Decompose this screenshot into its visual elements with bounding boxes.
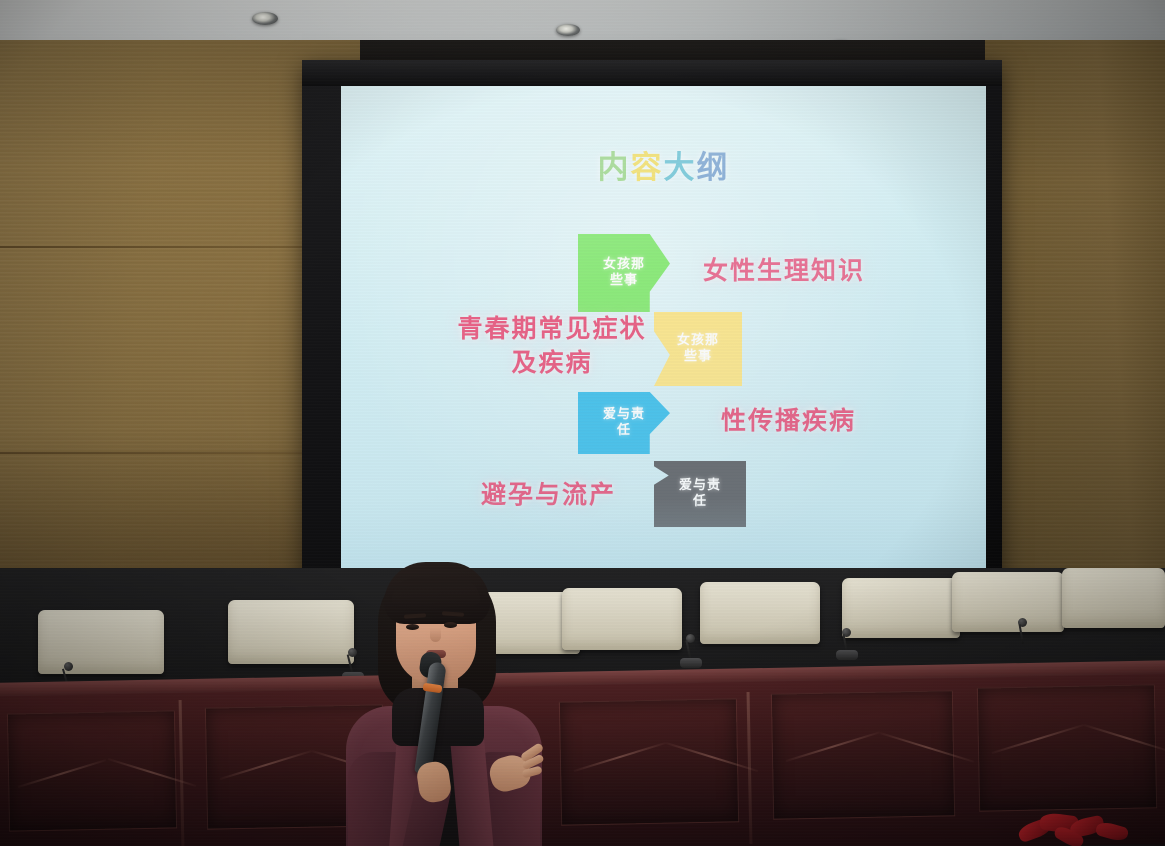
slide-block-2: 女孩那些事	[654, 312, 742, 386]
slide-block-1-label: 女孩那些事	[598, 257, 650, 290]
decorative-flower	[1014, 806, 1144, 846]
slide-block-3-label: 爱与责任	[598, 407, 650, 440]
conference-chair	[562, 588, 682, 650]
slide-caption-3: 性传播疾病	[721, 404, 856, 438]
conference-chair	[1062, 568, 1165, 628]
slide-title-char-2: 容	[631, 142, 664, 187]
speaker-hair-fringe	[392, 578, 480, 608]
recessed-downlight-icon	[252, 12, 278, 25]
speaker-figure	[330, 556, 560, 846]
flower-petal	[1095, 820, 1130, 843]
slide-block-2-label: 女孩那些事	[672, 333, 724, 366]
slide-title-char-4: 纲	[697, 142, 730, 187]
photo-scene: 内容大纲 女孩那些事 女性生理知识 女孩那些事 青春期常见症状 及疾病 爱与责任…	[0, 0, 1165, 846]
projection-screen-top-rail	[302, 60, 1002, 86]
slide-caption-4: 避孕与流产	[481, 478, 616, 512]
conference-chair	[38, 610, 164, 674]
projection-screen: 内容大纲 女孩那些事 女性生理知识 女孩那些事 青春期常见症状 及疾病 爱与责任…	[341, 86, 986, 618]
slide-block-4-label: 爱与责任	[674, 478, 726, 511]
slide-block-1: 女孩那些事	[578, 234, 670, 312]
desk-panel	[559, 698, 739, 825]
gooseneck-mic-base	[836, 650, 858, 660]
speaker-nose	[430, 628, 441, 642]
gooseneck-mic-base	[680, 658, 702, 668]
slide-title-char-1: 内	[598, 142, 631, 187]
speaker-eye-right	[444, 622, 457, 628]
conference-chair	[842, 578, 960, 638]
slide-title-char-3: 大	[664, 142, 697, 187]
conference-chair	[952, 572, 1064, 632]
recessed-downlight-icon	[556, 24, 580, 36]
slide-block-3: 爱与责任	[578, 392, 670, 454]
slide-caption-2: 青春期常见症状 及疾病	[441, 312, 663, 380]
conference-chair	[700, 582, 820, 644]
gooseneck-mic-head-icon	[64, 662, 73, 671]
speaker-eye-left	[406, 624, 419, 630]
slide-block-4: 爱与责任	[654, 461, 746, 527]
slide-caption-1: 女性生理知识	[703, 254, 865, 288]
slide-title: 内容大纲	[341, 142, 986, 187]
